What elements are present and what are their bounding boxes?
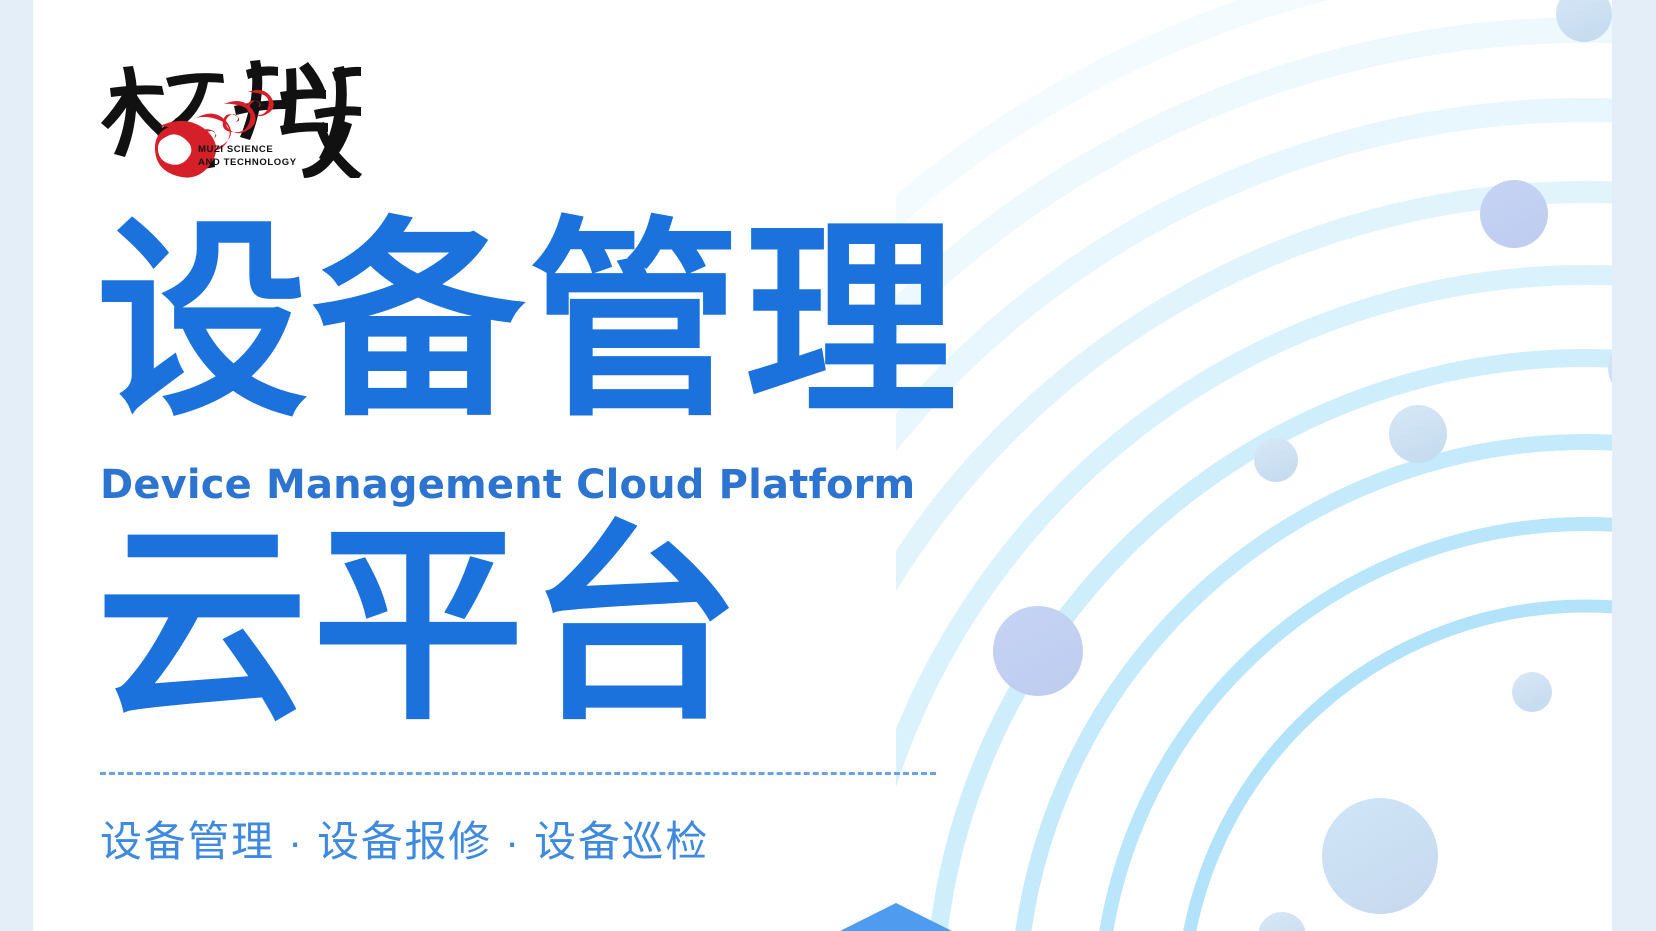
decor-dot — [1258, 912, 1306, 931]
left-edge-band — [0, 0, 33, 931]
decor-dot — [1512, 672, 1552, 712]
feature-tagline: 设备管理 · 设备报修 · 设备巡检 — [100, 808, 709, 869]
subtitle-english: Device Management Cloud Platform — [100, 462, 915, 508]
decor-dot — [1254, 438, 1298, 482]
bottom-chevron-icon — [828, 879, 964, 931]
decor-dot — [1389, 405, 1447, 463]
content-column: MUZI SCIENCE AND TECHNOLOGY 设备管理 Device … — [100, 0, 1080, 931]
title-line-1: 设备管理 — [96, 216, 961, 428]
poster-root: MUZI SCIENCE AND TECHNOLOGY 设备管理 Device … — [0, 0, 1656, 931]
logo-latin-line-2: AND TECHNOLOGY — [198, 157, 297, 168]
decor-dot — [1480, 180, 1548, 248]
decor-dot — [1322, 798, 1438, 914]
logo-latin-line-1: MUZI SCIENCE — [198, 144, 273, 155]
dashed-divider — [100, 772, 936, 775]
right-edge-band — [1612, 0, 1656, 931]
brand-logo: MUZI SCIENCE AND TECHNOLOGY — [100, 48, 362, 178]
title-line-2: 云平台 — [96, 520, 745, 732]
